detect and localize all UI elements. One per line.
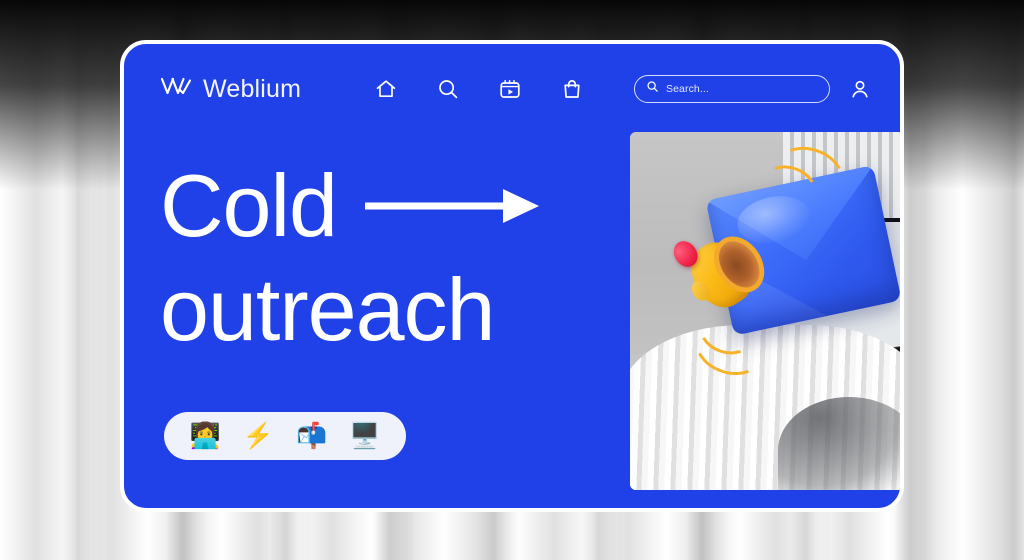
video-player-icon[interactable] (497, 76, 523, 102)
brand-name-label: Weblium (203, 75, 301, 104)
hero-card: Weblium (120, 40, 904, 512)
page-title-line-1: Cold (160, 162, 337, 250)
site-navbar: Weblium (124, 44, 900, 134)
search-input[interactable]: Search... (634, 75, 830, 103)
page-title-line-2: outreach (160, 266, 494, 354)
home-icon[interactable] (373, 76, 399, 102)
navbar-icon-group (373, 76, 585, 102)
brand-logo[interactable]: Weblium (160, 75, 301, 104)
search-placeholder-text: Search... (666, 83, 709, 95)
search-icon[interactable] (435, 76, 461, 102)
weblium-w-checkmark-logo (160, 76, 192, 103)
high-voltage-emoji: ⚡ (243, 424, 274, 449)
hero-text-block: Cold outreach (160, 154, 620, 362)
hero-line-2: outreach (160, 258, 620, 362)
woman-technologist-emoji: 👩‍💻 (190, 424, 221, 449)
hero-photo (630, 132, 904, 490)
user-account-icon[interactable] (848, 77, 872, 101)
hero-line-1: Cold (160, 154, 620, 258)
desktop-computer-emoji: 🖥️ (349, 424, 380, 449)
arrow-right-icon (363, 184, 541, 228)
navbar-right-group: Search... (634, 75, 872, 103)
emoji-badge-pill: 👩‍💻 ⚡ 📬 🖥️ (164, 412, 406, 460)
page-backdrop: Weblium (0, 0, 1024, 560)
shopping-bag-icon[interactable] (559, 76, 585, 102)
search-icon (646, 80, 659, 98)
open-mailbox-raised-flag-emoji: 📬 (296, 424, 327, 449)
